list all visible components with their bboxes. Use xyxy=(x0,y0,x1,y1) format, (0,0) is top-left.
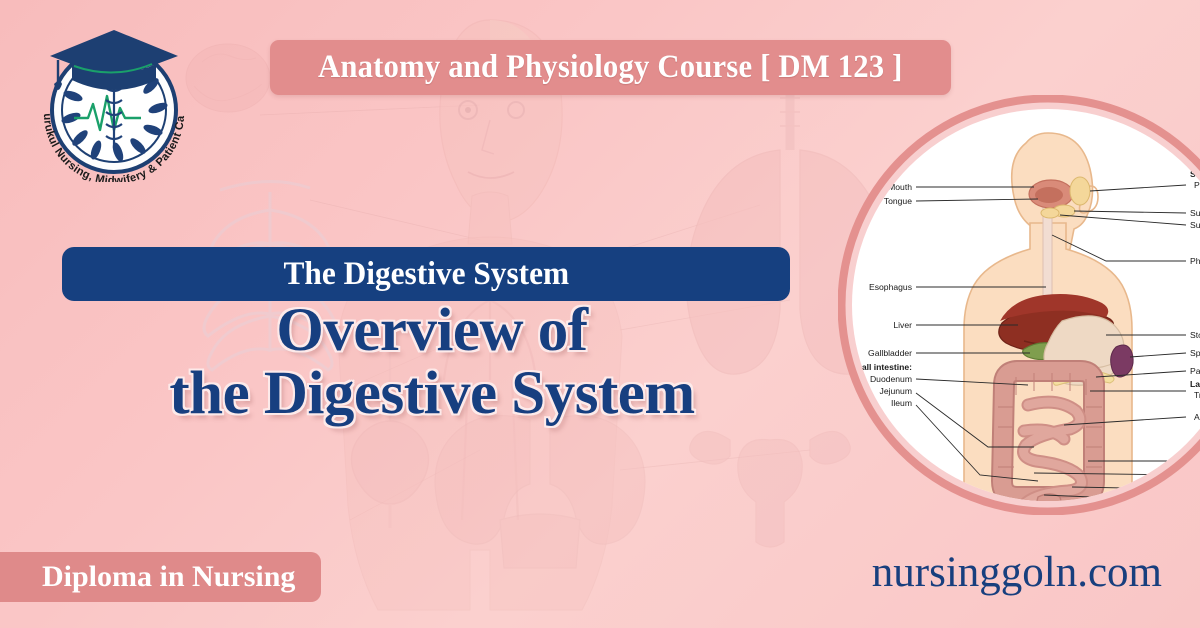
program-badge-label: Diploma in Nursing xyxy=(42,560,295,594)
label-pharynx: Pharynx xyxy=(1190,256,1200,266)
label-sigmoid-colon: Sigmoid colon xyxy=(1190,484,1200,494)
label-liver: Liver xyxy=(893,320,912,330)
program-badge: Diploma in Nursing xyxy=(0,552,321,602)
label-sublingual-gland: Sublingual gland xyxy=(1190,208,1200,218)
label-pancreas: Pancreas xyxy=(1190,366,1200,376)
label-transverse-colon: Transverse colon xyxy=(1194,390,1200,400)
label-appendix: Appendix xyxy=(1190,496,1200,506)
label-duodenum: Duodenum xyxy=(870,374,912,384)
label-stomach: Stomach xyxy=(1190,330,1200,340)
subtitle-pill: The Digestive System xyxy=(62,247,790,301)
label-rectum: Rectum xyxy=(1190,506,1200,515)
label-cecum: Cecum xyxy=(1190,470,1200,480)
label-parotid-gland: Parotid gland xyxy=(1194,180,1200,190)
digestive-system-diagram: Mouth Tongue Esophagus Liver Gallbladder… xyxy=(838,95,1200,515)
label-large-intestine: Large intestine: xyxy=(1190,379,1200,389)
label-tongue: Tongue xyxy=(884,196,912,206)
website-url: nursinggoln.com xyxy=(872,548,1162,597)
course-banner-label: Anatomy and Physiology Course [ DM 123 ] xyxy=(318,49,903,86)
label-gallbladder: Gallbladder xyxy=(868,348,912,358)
page-title: Overview of the Digestive System xyxy=(62,300,802,426)
poster-canvas: Gurukul Nursing, Midwifery & Patient Car… xyxy=(0,0,1200,628)
subtitle-label: The Digestive System xyxy=(283,256,569,293)
label-jejunum: Jejunum xyxy=(880,386,912,396)
label-esophagus: Esophagus xyxy=(869,282,912,292)
title-line-2: the Digestive System xyxy=(62,363,802,426)
label-spleen: Spleen xyxy=(1190,348,1200,358)
label-ileum: Ileum xyxy=(891,398,912,408)
label-ascending-colon: Ascending colon xyxy=(1194,412,1200,422)
title-line-1: Overview of xyxy=(62,300,802,363)
course-banner: Anatomy and Physiology Course [ DM 123 ] xyxy=(270,40,951,95)
gurukul-nursing-logo: Gurukul Nursing, Midwifery & Patient Car… xyxy=(28,22,200,182)
label-submandibular-gland: Submandibular gland xyxy=(1190,220,1200,230)
